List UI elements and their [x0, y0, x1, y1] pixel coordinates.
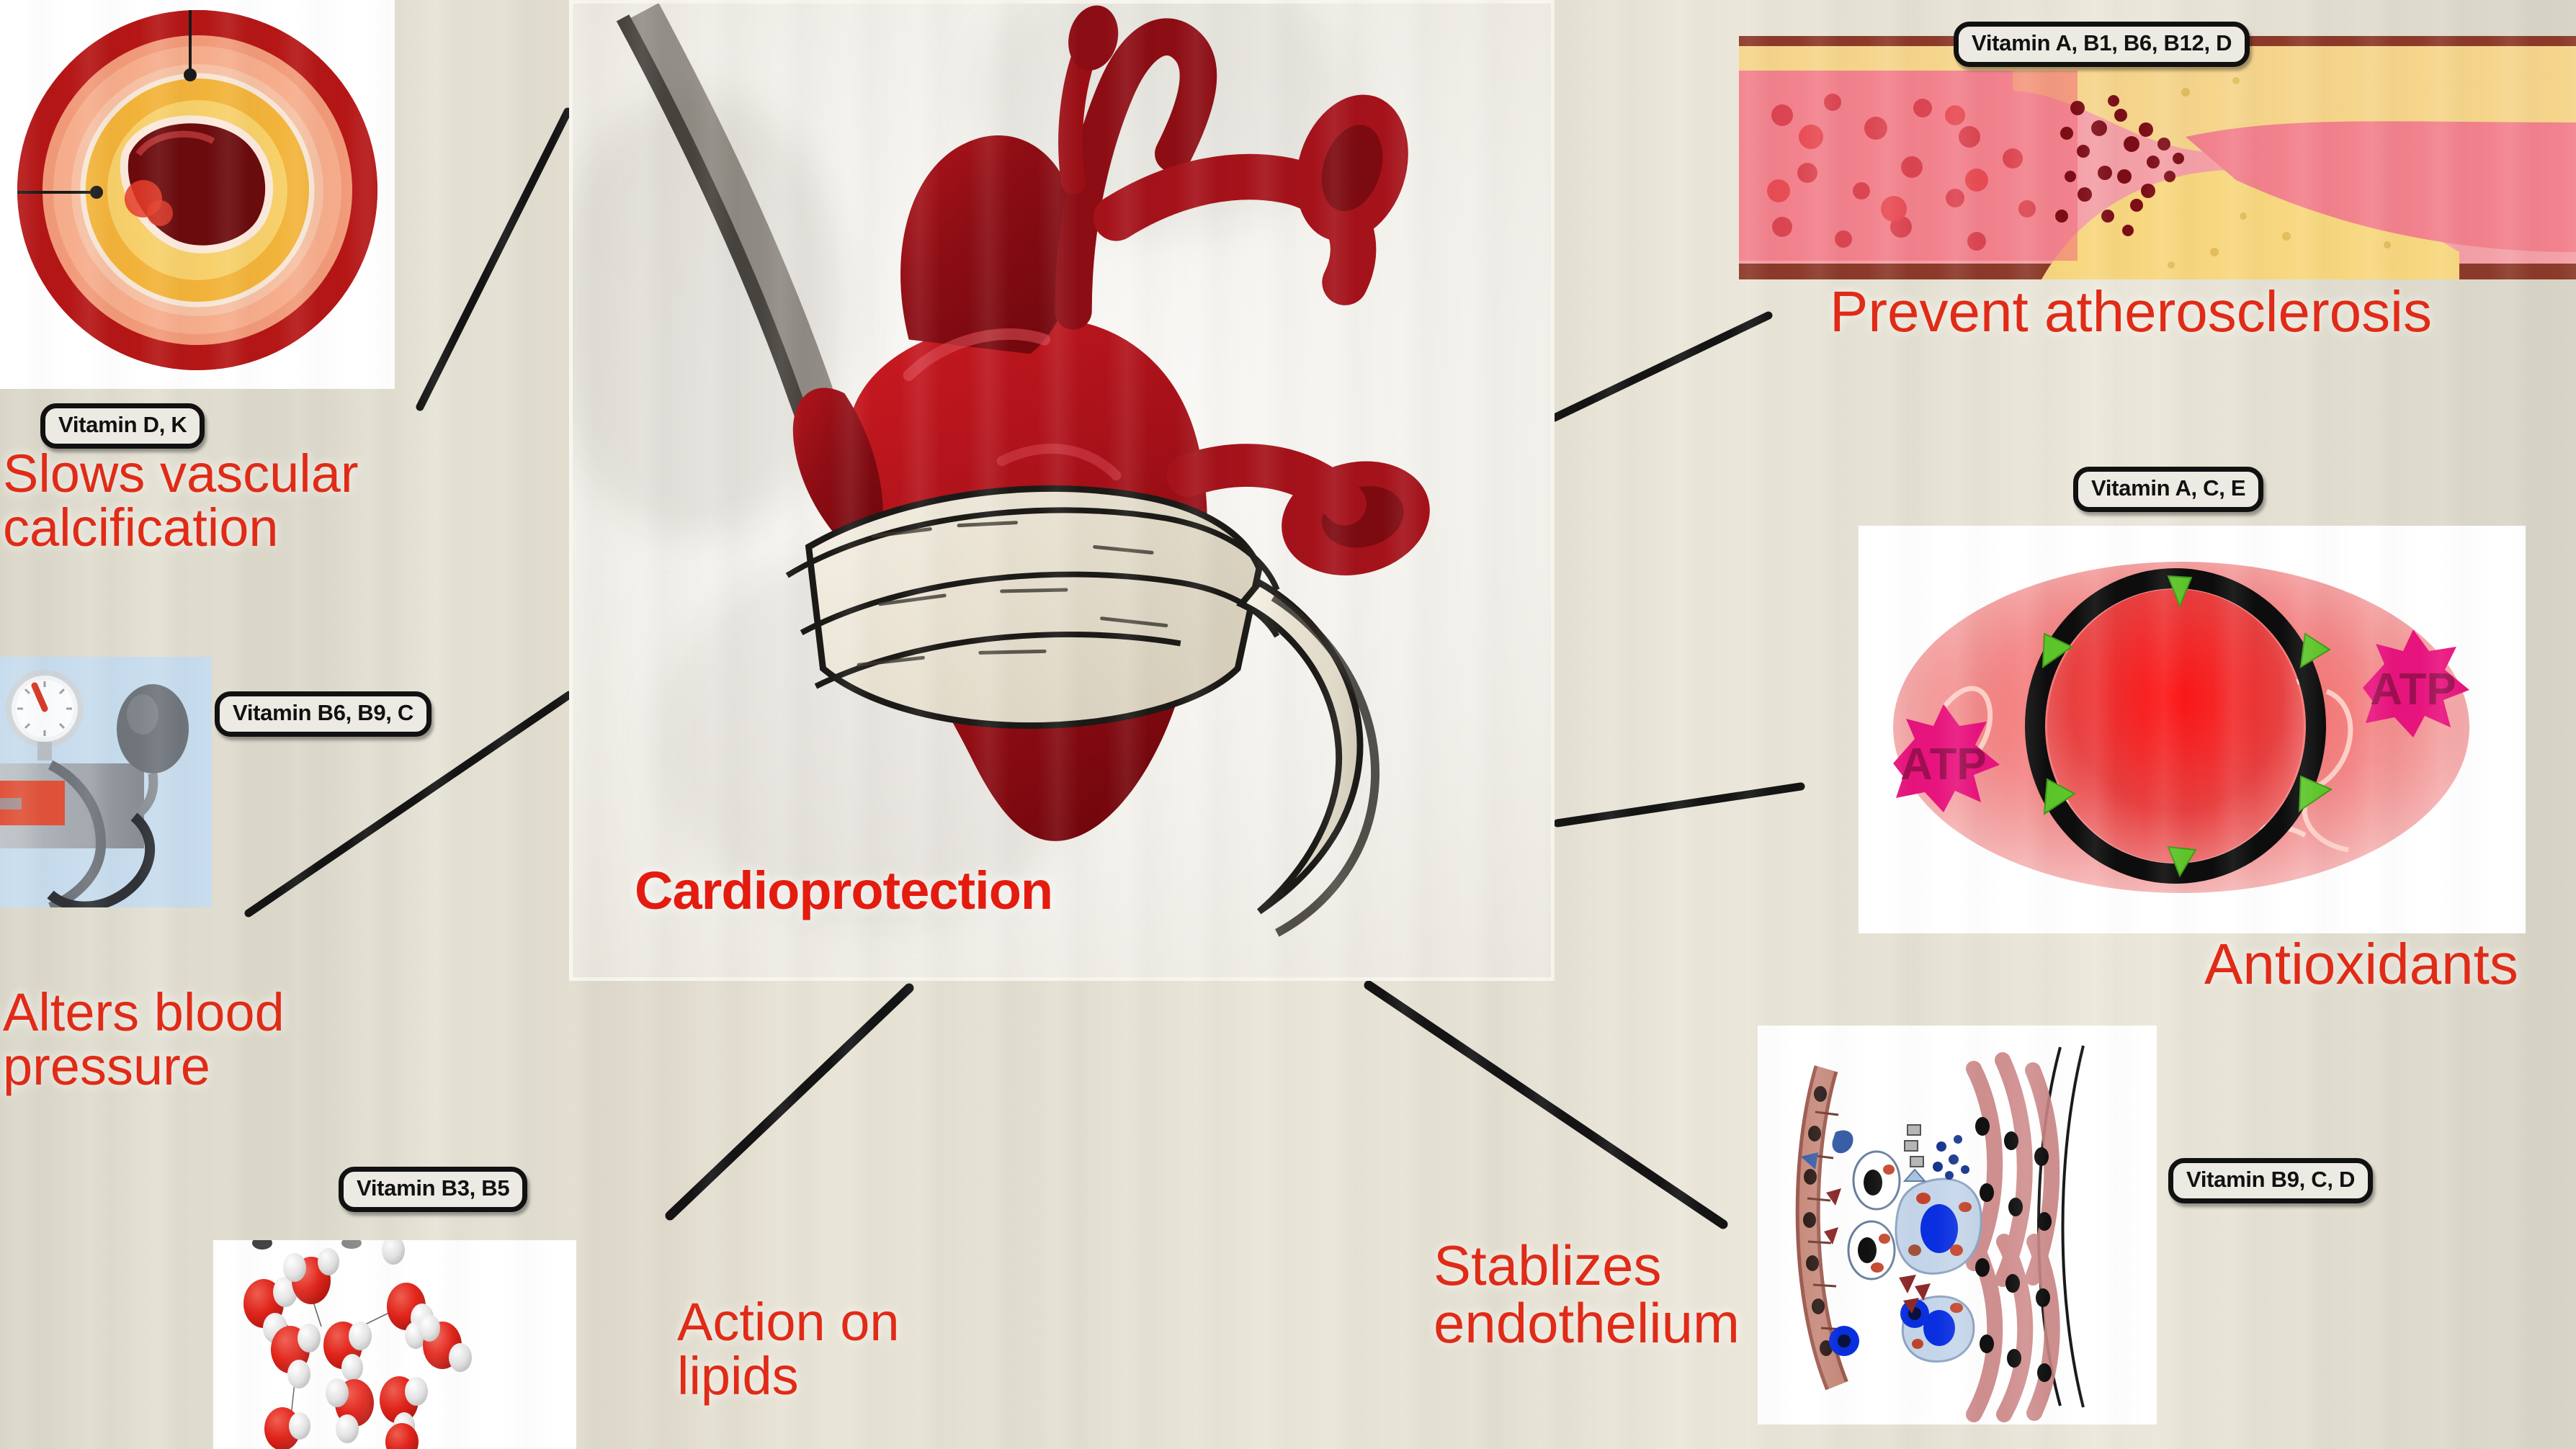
center-title: Cardioprotection	[635, 860, 1052, 921]
connector-to-antioxidants	[1557, 786, 1801, 823]
badge-vitamin-lipids[interactable]: Vitamin B3, B5	[339, 1167, 527, 1212]
atp-label-right: ATP	[2370, 665, 2456, 714]
atherosclerosis-panel	[1739, 36, 2576, 279]
endothelium-cells-cross-section	[1758, 1026, 2157, 1425]
connector-to-endothelium	[1369, 985, 1723, 1224]
blood-pressure-panel	[0, 657, 212, 907]
caption-antioxidants: Antioxidants	[2204, 935, 2518, 994]
water-molecule-model	[213, 1240, 576, 1449]
diagram-canvas: Cardioprotection	[0, 0, 2576, 1449]
connector-to-lipids	[670, 988, 909, 1216]
bandaged-heart-illustration	[573, 4, 1551, 977]
artery-cross-section-panel	[0, 0, 395, 389]
connector-to-vascular-calcification	[420, 112, 568, 407]
badge-vitamin-endothelium[interactable]: Vitamin B9, C, D	[2168, 1158, 2373, 1203]
endothelium-panel	[1758, 1026, 2157, 1425]
caption-lipids: Action on lipids	[677, 1295, 900, 1404]
caption-atherosclerosis: Prevent atherosclerosis	[1830, 282, 2432, 341]
caption-blood-pressure: Alters blood pressure	[3, 985, 285, 1094]
sphygmomanometer-cuff	[0, 657, 212, 907]
caption-endothelium: Stablizes endothelium	[1434, 1237, 1740, 1352]
lipid-molecules-panel	[213, 1240, 576, 1449]
caption-vascular-calcification: Slows vascular calcification	[3, 447, 359, 555]
mitochondrion-panel: ATP ATP	[1859, 526, 2526, 933]
mitochondrion-atp: ATP ATP	[1859, 526, 2526, 933]
artery-longitudinal-plaque	[1739, 36, 2576, 279]
badge-vitamin-blood-pressure[interactable]: Vitamin B6, B9, C	[215, 691, 431, 737]
badge-vitamin-antioxidants[interactable]: Vitamin A, C, E	[2073, 467, 2263, 512]
center-panel-cardioprotection: Cardioprotection	[569, 0, 1555, 981]
artery-cross-section-plaque	[17, 10, 377, 370]
atp-label-left: ATP	[1900, 740, 1986, 789]
badge-vitamin-atherosclerosis[interactable]: Vitamin A, B1, B6, B12, D	[1954, 22, 2250, 67]
badge-vitamin-vascular-calcification[interactable]: Vitamin D, K	[40, 403, 205, 449]
connector-to-atherosclerosis	[1555, 315, 1768, 418]
